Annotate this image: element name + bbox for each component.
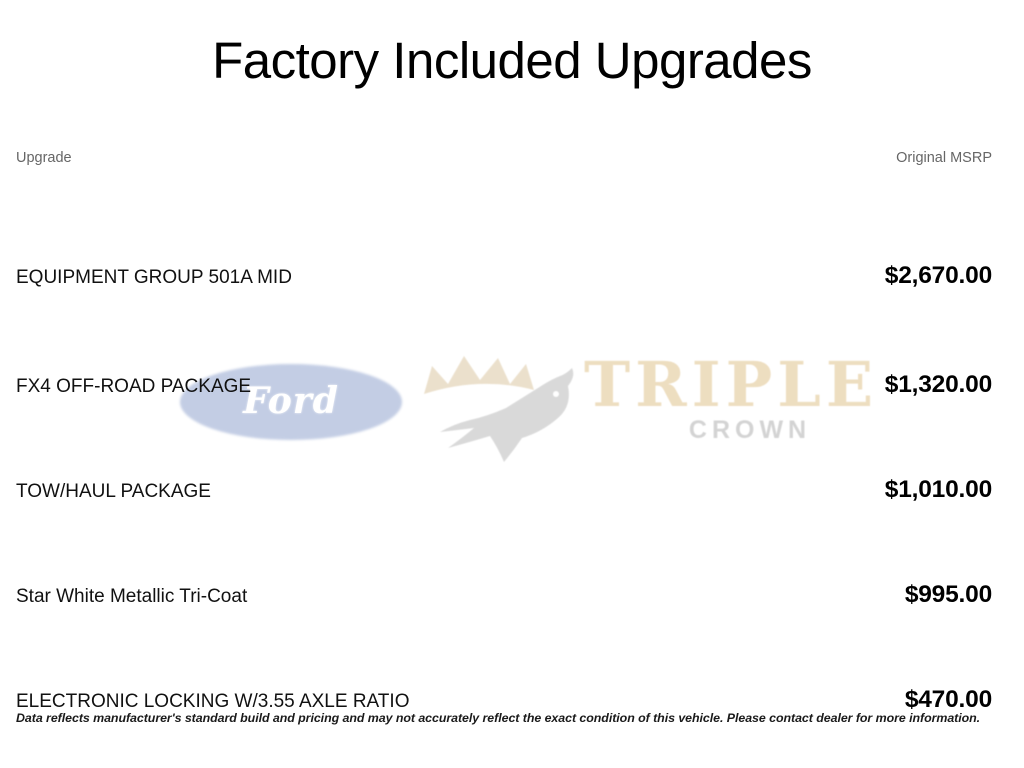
table-row: ELECTRONIC LOCKING W/3.55 AXLE RATIO $47… — [16, 604, 992, 709]
upgrades-page: Factory Included Upgrades Ford TRIPLE CR… — [0, 0, 1024, 768]
upgrade-price: $470.00 — [905, 688, 992, 713]
table-row: EQUIPMENT GROUP 501A MID $2,670.00 — [16, 184, 992, 289]
column-header-upgrade: Upgrade — [16, 150, 72, 166]
upgrade-label: EQUIPMENT GROUP 501A MID — [16, 268, 292, 287]
page-title: Factory Included Upgrades — [0, 34, 1024, 88]
column-header-original-msrp: Original MSRP — [896, 150, 992, 166]
upgrades-table: Upgrade Original MSRP EQUIPMENT GROUP 50… — [16, 150, 992, 709]
table-header-row: Upgrade Original MSRP — [16, 150, 992, 184]
table-row: TOW/HAUL PACKAGE $1,010.00 — [16, 394, 992, 499]
upgrade-price: $2,670.00 — [885, 264, 992, 289]
upgrade-label: ELECTRONIC LOCKING W/3.55 AXLE RATIO — [16, 692, 409, 711]
disclaimer-text: Data reflects manufacturer's standard bu… — [16, 711, 1008, 725]
table-row: FX4 OFF-ROAD PACKAGE $1,320.00 — [16, 289, 992, 394]
table-row: Star White Metallic Tri-Coat $995.00 — [16, 499, 992, 604]
